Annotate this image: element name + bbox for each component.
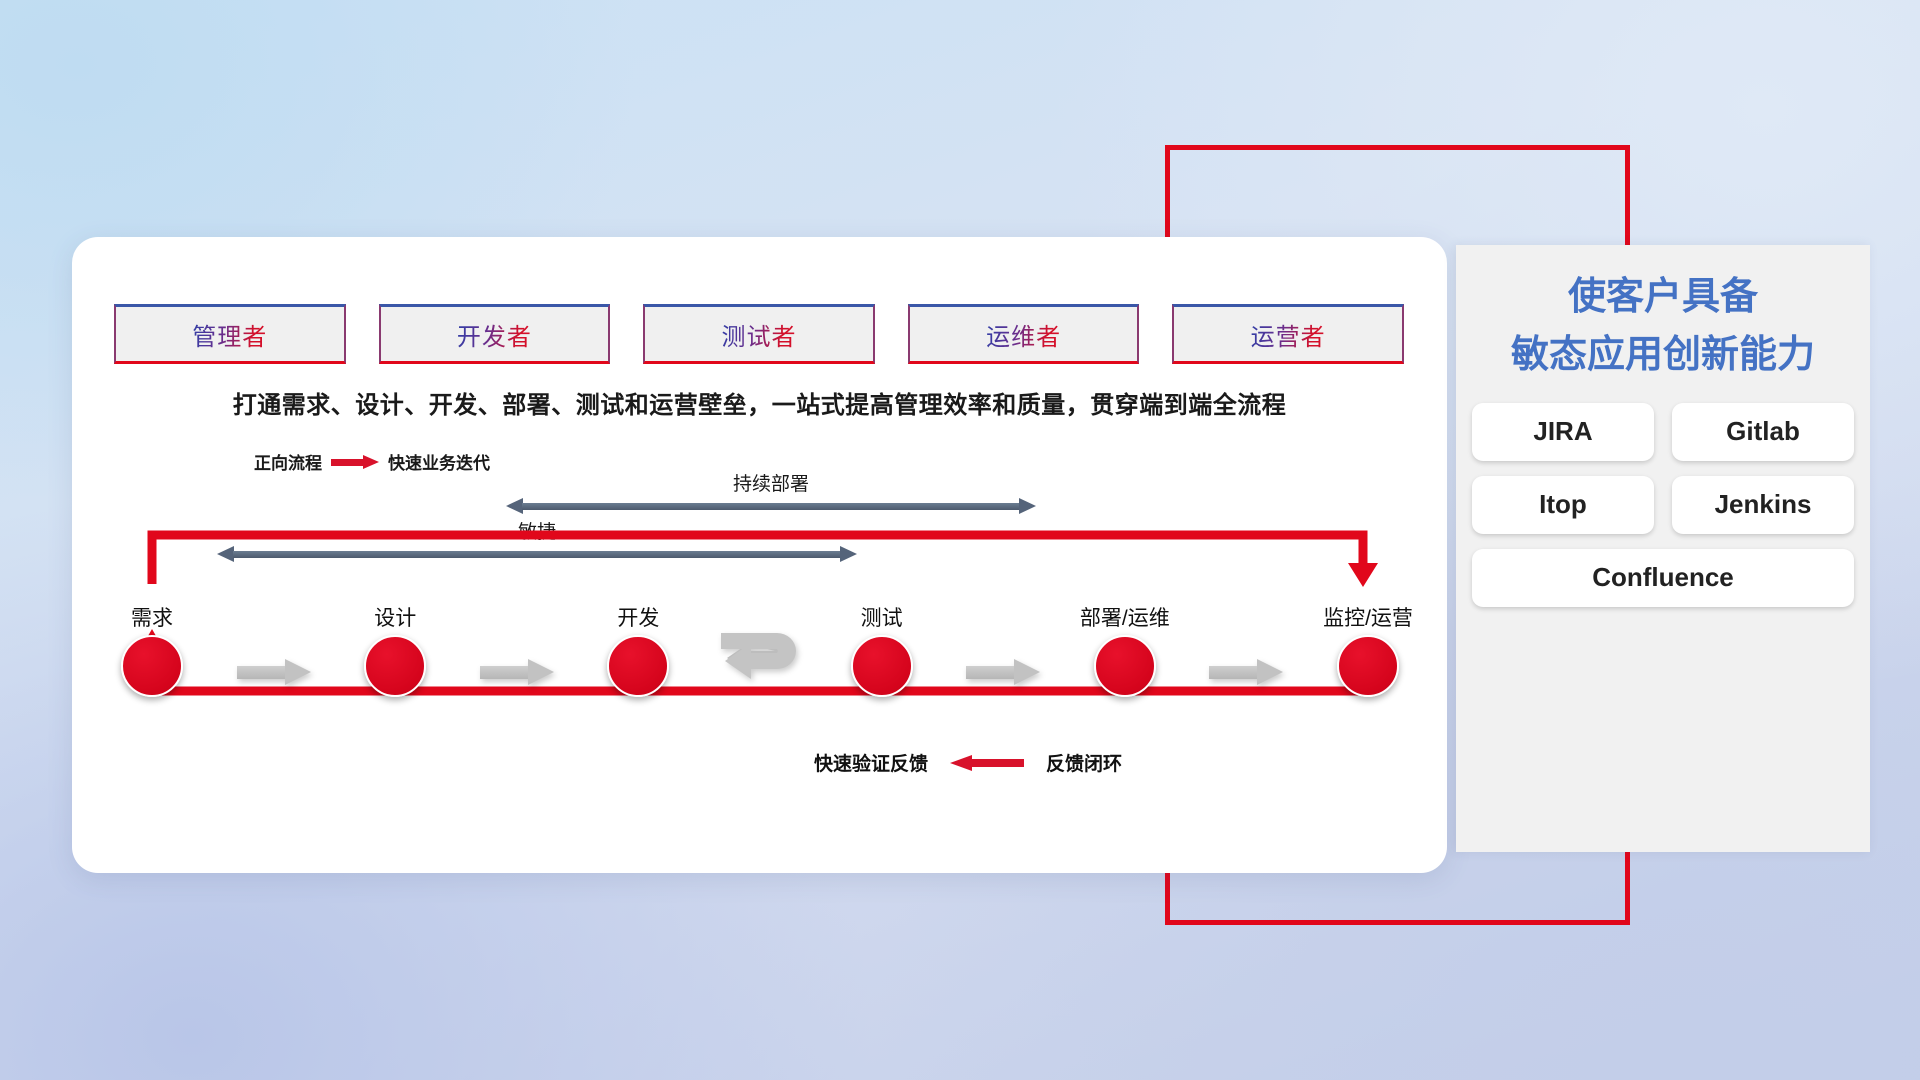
arrow-shaft [1209, 666, 1257, 679]
panel-heading: 使客户具备 敏态应用创新能力 [1456, 245, 1870, 385]
arrow-head-right-icon [1019, 498, 1036, 514]
arrow-shaft [480, 666, 528, 679]
pipeline-stage-requirements[interactable]: 需求 [100, 602, 204, 697]
forward-flow-right-label: 快速业务迭代 [388, 449, 490, 474]
arrow-shaft [237, 666, 285, 679]
pipeline-stage-design[interactable]: 设计 [343, 602, 447, 697]
pipeline-connector [934, 659, 1073, 697]
forward-flow-caption: 正向流程 快速业务迭代 [254, 449, 490, 474]
arrow-right-gray-icon [237, 659, 311, 685]
stage-label: 监控/运营 [1323, 602, 1413, 632]
feedback-left-label: 快速验证反馈 [814, 749, 928, 776]
arrow-head-icon [528, 659, 554, 685]
stage-label: 设计 [374, 602, 416, 632]
feedback-right-label: 反馈闭环 [1046, 749, 1122, 776]
arrow-head-icon [1014, 659, 1040, 685]
arrow-right-gray-icon [966, 659, 1040, 685]
role-label: 开发者 [457, 317, 532, 352]
pipeline-connector-loop [690, 627, 829, 697]
stage-label: 需求 [131, 602, 173, 632]
tool-tag-confluence[interactable]: Confluence [1472, 549, 1854, 607]
role-box-ops[interactable]: 运维者 [908, 304, 1140, 364]
panel-heading-line1: 使客户具备 [1456, 269, 1870, 327]
arrow-right-red-icon [331, 455, 379, 469]
stage-dot-icon [364, 635, 426, 697]
stage-label: 部署/运维 [1080, 602, 1170, 632]
tool-tag-jenkins[interactable]: Jenkins [1672, 476, 1854, 534]
tool-tag-list: JIRA Gitlab Itop Jenkins Confluence [1456, 385, 1870, 607]
role-box-operations[interactable]: 运营者 [1172, 304, 1404, 364]
stage-label: 测试 [861, 602, 903, 632]
role-box-tester[interactable]: 测试者 [643, 304, 875, 364]
stage-dot-icon [121, 635, 183, 697]
role-label: 管理者 [192, 317, 267, 352]
pipeline-connector [447, 659, 586, 697]
right-panel: 使客户具备 敏态应用创新能力 JIRA Gitlab Itop Jenkins … [1456, 245, 1870, 852]
role-label: 运营者 [1251, 317, 1326, 352]
pipeline-stage-test[interactable]: 测试 [830, 602, 934, 697]
feedback-caption: 快速验证反馈 反馈闭环 [814, 749, 1122, 776]
role-box-developer[interactable]: 开发者 [379, 304, 611, 364]
tool-tag-itop[interactable]: Itop [1472, 476, 1654, 534]
arrow-shaft [966, 666, 1014, 679]
u-turn-loop-arrow-icon [715, 627, 805, 685]
continuous-deploy-label: 持续部署 [506, 469, 1036, 496]
arrow-head-icon [285, 659, 311, 685]
stage-dot-icon [1094, 635, 1156, 697]
tool-tag-jira[interactable]: JIRA [1472, 403, 1654, 461]
arrow-head-icon [1257, 659, 1283, 685]
arrow-right-gray-icon [480, 659, 554, 685]
pipeline-stage-deploy-ops[interactable]: 部署/运维 [1073, 602, 1177, 697]
arrow-right-gray-icon [1209, 659, 1283, 685]
main-content-card: 管理者 开发者 测试者 运维者 运营者 打通需求、设计、开发、部署、测试和运营壁… [72, 237, 1447, 873]
arrow-shaft [522, 503, 1020, 510]
role-label: 运维者 [986, 317, 1061, 352]
forward-flow-left-label: 正向流程 [254, 449, 322, 474]
role-boxes-row: 管理者 开发者 测试者 运维者 运营者 [114, 304, 1404, 364]
role-label: 测试者 [721, 317, 796, 352]
arrow-head-left-icon [506, 498, 523, 514]
pipeline-connector [1177, 659, 1316, 697]
stage-label: 开发 [617, 602, 659, 632]
continuous-deploy-span: 持续部署 [506, 469, 1036, 514]
double-arrow-icon [506, 498, 1036, 514]
pipeline-row: 需求 设计 开发 [100, 567, 1420, 697]
panel-heading-line2: 敏态应用创新能力 [1456, 327, 1870, 385]
tool-tag-gitlab[interactable]: Gitlab [1672, 403, 1854, 461]
subtitle-text: 打通需求、设计、开发、部署、测试和运营壁垒，一站式提高管理效率和质量，贯穿端到端… [72, 385, 1447, 420]
pipeline-stage-development[interactable]: 开发 [586, 602, 690, 697]
role-box-manager[interactable]: 管理者 [114, 304, 346, 364]
pipeline-stage-monitor-operations[interactable]: 监控/运营 [1316, 602, 1420, 697]
stage-dot-icon [1337, 635, 1399, 697]
pipeline-connector [204, 659, 343, 697]
arrow-left-red-icon [950, 755, 1024, 771]
stage-dot-icon [851, 635, 913, 697]
stage-dot-icon [607, 635, 669, 697]
